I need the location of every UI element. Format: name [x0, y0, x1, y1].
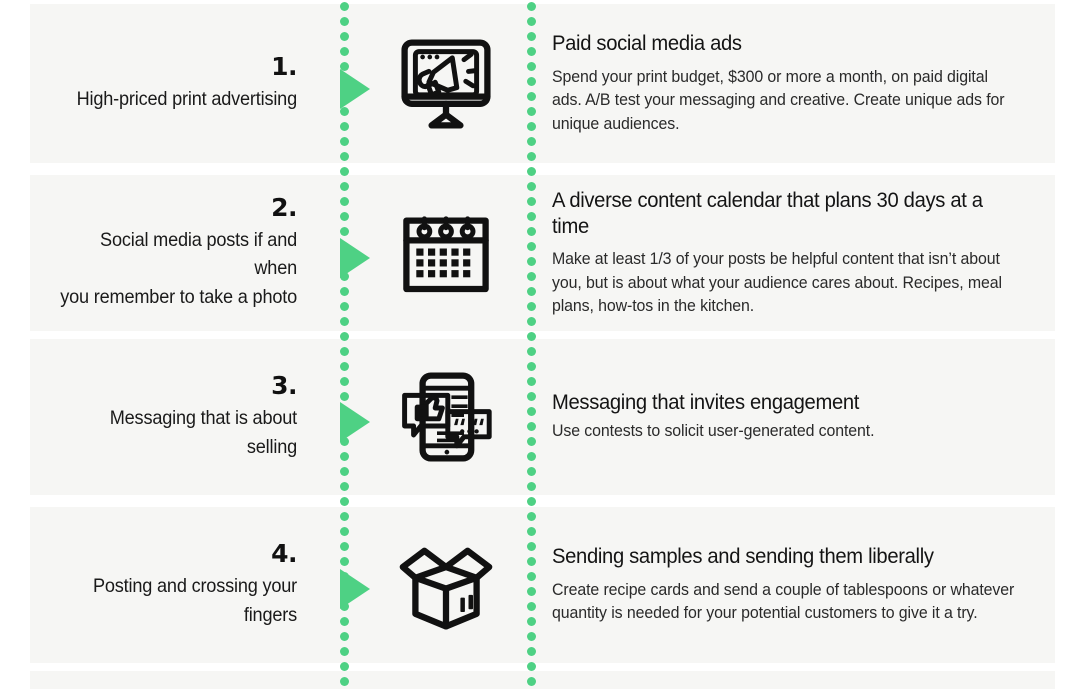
phone-engagement-icon — [392, 363, 500, 471]
before-state-text: High-priced print advertising — [77, 85, 297, 113]
row-left-column: 2. Social media posts if and when you re… — [30, 175, 315, 331]
after-state-body: Create recipe cards and send a couple of… — [552, 579, 1021, 626]
comparison-row: 2. Social media posts if and when you re… — [30, 175, 1055, 331]
divider-dot — [527, 497, 536, 506]
row-right-column: Paid social media ads Spend your print b… — [530, 4, 1055, 163]
after-state-heading: Messaging that invites engagement — [552, 390, 1006, 416]
divider-dot — [340, 497, 349, 506]
step-number: 3. — [271, 373, 297, 398]
green-arrow-icon — [338, 400, 372, 444]
after-state-heading: Sending samples and sending them liberal… — [552, 544, 1006, 570]
before-state-text: Posting and crossing your fingers — [58, 572, 297, 629]
row-left-column: 3. Messaging that is about selling — [30, 339, 315, 495]
after-state-body: Spend your print budget, $300 or more a … — [552, 66, 1021, 136]
row-left-column: 1. High-priced print advertising — [30, 4, 315, 163]
row-left-column: 4. Posting and crossing your fingers — [30, 507, 315, 663]
row-right-column: Messaging that invites engagement Use co… — [530, 339, 1055, 495]
comparison-row: 4. Posting and crossing your fingers — [30, 507, 1055, 663]
megaphone-monitor-icon — [392, 30, 500, 138]
row-right-column: A diverse content calendar that plans 30… — [530, 175, 1055, 331]
comparison-row: 3. Messaging that is about selling — [30, 339, 1055, 495]
step-number: 1. — [271, 54, 297, 79]
after-state-heading: Paid social media ads — [552, 31, 1006, 57]
before-state-text: Messaging that is about selling — [58, 404, 297, 461]
after-state-body: Make at least 1/3 of your posts be helpf… — [552, 248, 1021, 318]
after-state-body: Use contests to solicit user-generated c… — [552, 420, 1021, 443]
step-number: 4. — [271, 541, 297, 566]
open-box-icon — [392, 531, 500, 639]
divider-dot — [527, 662, 536, 671]
green-arrow-icon — [338, 236, 372, 280]
calendar-icon — [392, 199, 500, 307]
divider-dot — [340, 662, 349, 671]
infographic-canvas: 1. High-priced print advertising — [0, 0, 1080, 675]
comparison-row: 1. High-priced print advertising — [30, 4, 1055, 163]
row-right-column: Sending samples and sending them liberal… — [530, 507, 1055, 663]
after-state-heading: A diverse content calendar that plans 30… — [552, 188, 1006, 240]
green-arrow-icon — [338, 67, 372, 111]
before-state-text: Social media posts if and when you remem… — [58, 226, 297, 311]
green-arrow-icon — [338, 567, 372, 611]
step-number: 2. — [271, 195, 297, 220]
comparison-row-partial — [30, 671, 1055, 689]
